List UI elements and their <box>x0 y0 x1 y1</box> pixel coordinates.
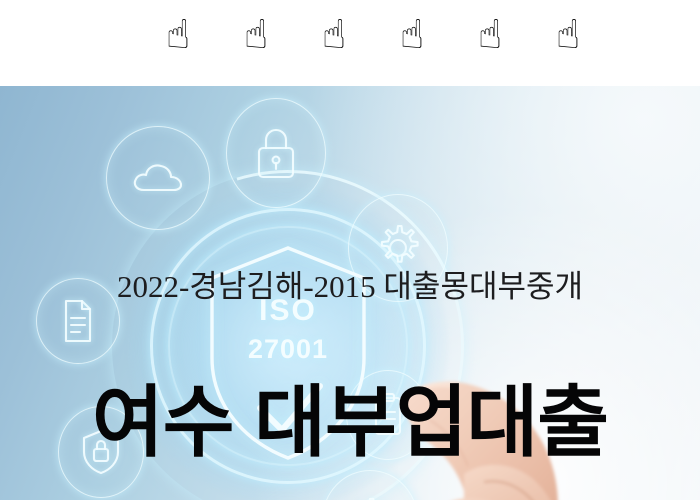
cloud-icon <box>106 126 210 230</box>
index-pointing-up-hand-icon: ☝ <box>470 12 510 58</box>
emoji-band: ☝ ☝ ☝ ☝ ☝ ☝ <box>0 0 700 86</box>
index-pointing-up-hand-icon: ☝ <box>392 12 432 58</box>
banner-subtitle: 2022-경남김해-2015 대출몽대부중개 <box>0 267 700 307</box>
hero-banner: ISO 27001 <box>0 86 700 500</box>
banner-page: ☝ ☝ ☝ ☝ ☝ ☝ <box>0 0 700 500</box>
index-pointing-up-hand-icon: ☝ <box>314 12 354 58</box>
iso-shield-label-line2: 27001 <box>196 334 380 365</box>
index-pointing-up-hand-icon: ☝ <box>158 12 198 58</box>
page-title: 여수 대부업대출 <box>0 376 700 468</box>
padlock-icon <box>226 98 326 208</box>
index-pointing-up-hand-icon: ☝ <box>548 12 588 58</box>
index-pointing-up-hand-icon: ☝ <box>236 12 276 58</box>
